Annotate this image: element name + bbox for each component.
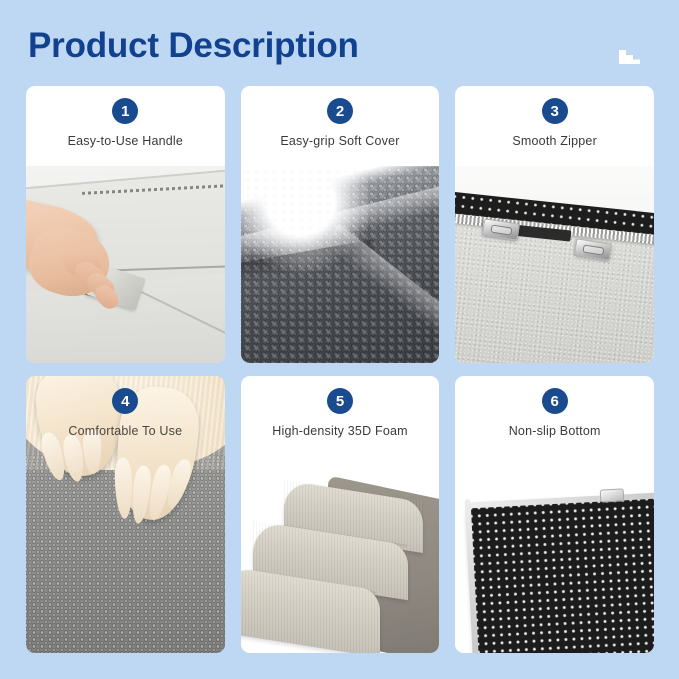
card-5-head: 5 High-density 35D Foam: [241, 376, 440, 451]
card-1-caption: Easy-to-Use Handle: [68, 134, 183, 148]
card-2-photo: [241, 166, 440, 363]
feature-card-1[interactable]: 1 Easy-to-Use Handle: [26, 86, 225, 363]
paw-toe: [82, 430, 102, 475]
feature-card-3[interactable]: 3 Smooth Zipper: [455, 86, 654, 363]
card-2-head: 2 Easy-grip Soft Cover: [241, 86, 440, 161]
feature-card-5[interactable]: 5 High-density 35D Foam: [241, 376, 440, 653]
card-6-caption: Non-slip Bottom: [509, 424, 601, 438]
card-3-caption: Smooth Zipper: [512, 134, 597, 148]
seam-line-secondary: [135, 287, 225, 337]
feature-card-2[interactable]: 2 Easy-grip Soft Cover: [241, 86, 440, 363]
card-2-badge: 2: [327, 98, 353, 124]
card-5-badge: 5: [327, 388, 353, 414]
feature-card-6[interactable]: 6 Non-slip Bottom: [455, 376, 654, 653]
card-3-photo: [455, 166, 654, 363]
grip-dot-pattern: [467, 494, 654, 653]
card-3-head: 3 Smooth Zipper: [455, 86, 654, 161]
header: Product Description: [0, 0, 679, 86]
card-6-badge: 6: [542, 388, 568, 414]
card-5-caption: High-density 35D Foam: [272, 424, 408, 438]
card-2-caption: Easy-grip Soft Cover: [280, 134, 399, 148]
feature-cards-grid: 1 Easy-to-Use Handle 2 E: [26, 86, 654, 653]
feature-card-4[interactable]: 4 Comfortable To Use: [26, 376, 225, 653]
nonslip-pad: [467, 494, 654, 653]
card-1-head: 1 Easy-to-Use Handle: [26, 86, 225, 161]
card-6-head: 6 Non-slip Bottom: [455, 376, 654, 451]
zipper-pull: [600, 489, 625, 503]
page-title: Product Description: [28, 24, 359, 68]
card-5-photo: [241, 456, 440, 653]
card-6-photo: [455, 456, 654, 653]
card-4-photo: [26, 376, 225, 653]
product-description-infographic: Product Description 1 Easy-to-Use Handle: [0, 0, 679, 679]
card-1-photo: [26, 166, 225, 363]
stairs-icon: [613, 41, 645, 65]
card-1-badge: 1: [112, 98, 138, 124]
card-3-badge: 3: [542, 98, 568, 124]
